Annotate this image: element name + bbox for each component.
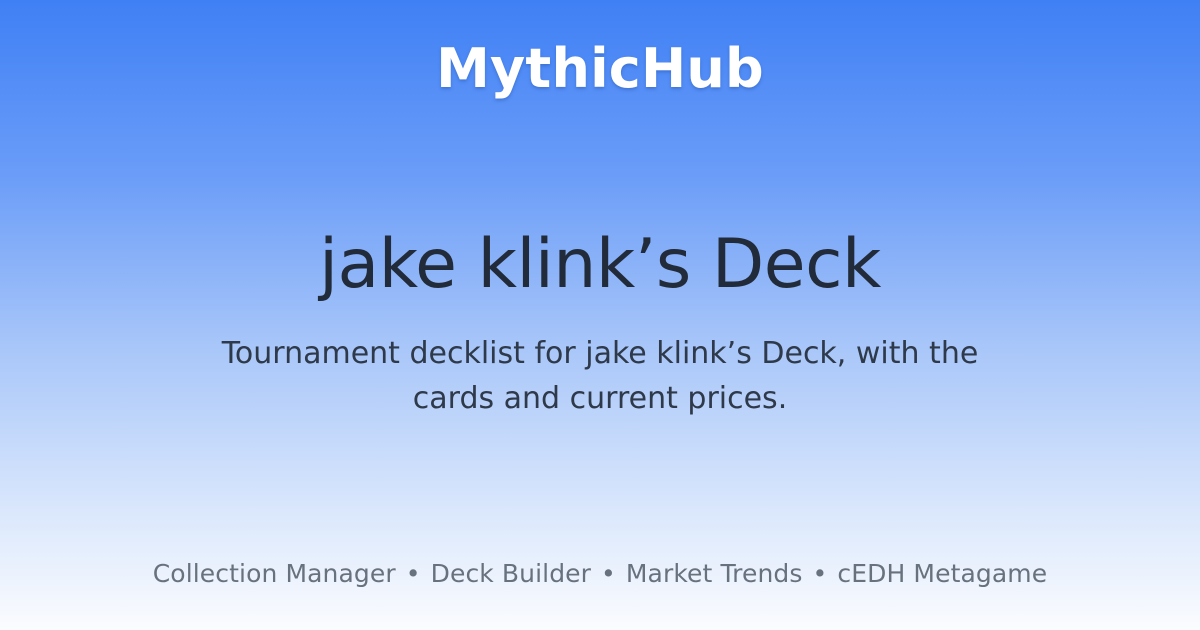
footer-feature-list: Collection Manager•Deck Builder•Market T… (153, 561, 1047, 586)
footer: Collection Manager•Deck Builder•Market T… (0, 556, 1200, 590)
og-share-card: MythicHub jake klink’s Deck Tournament d… (0, 0, 1200, 630)
footer-link-deck-builder[interactable]: Deck Builder (431, 561, 591, 586)
footer-separator-bullet-icon: • (591, 561, 626, 586)
footer-separator-bullet-icon: • (396, 561, 431, 586)
footer-separator-bullet-icon: • (803, 561, 838, 586)
deck-title: jake klink’s Deck (279, 229, 921, 301)
footer-link-cedh-metagame[interactable]: cEDH Metagame (837, 561, 1047, 586)
footer-link-market-trends[interactable]: Market Trends (626, 561, 803, 586)
footer-link-collection-manager[interactable]: Collection Manager (153, 561, 396, 586)
brand-wordmark: MythicHub (436, 42, 764, 96)
brand-header: MythicHub (0, 42, 1200, 120)
deck-subtitle: Tournament decklist for jake klink’s Dec… (200, 331, 1000, 421)
card-main-content: jake klink’s Deck Tournament decklist fo… (0, 120, 1200, 556)
